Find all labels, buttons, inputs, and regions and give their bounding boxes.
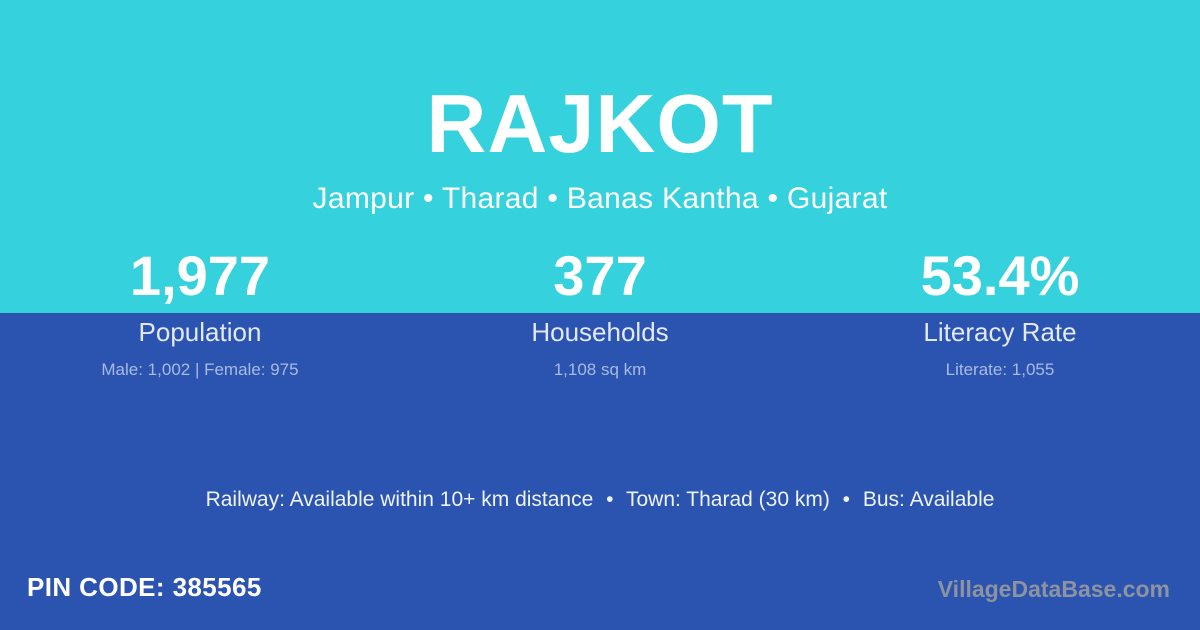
page-title: RAJKOT — [0, 82, 1200, 165]
stat-label: Literacy Rate — [800, 316, 1200, 349]
pin-code: PIN CODE: 385565 — [27, 572, 262, 603]
stat-label: Households — [400, 316, 800, 349]
breadcrumb: Jampur • Tharad • Banas Kantha • Gujarat — [0, 182, 1200, 215]
stat-label: Population — [0, 316, 400, 349]
stat-sublabel: 1,108 sq km — [400, 358, 800, 382]
stats-row: 1,977 Population Male: 1,002 | Female: 9… — [0, 243, 1200, 381]
bullet-separator-icon: • — [836, 485, 857, 514]
stat-literacy-rate: 53.4% Literacy Rate Literate: 1,055 — [800, 243, 1200, 381]
stat-value: 377 — [400, 243, 800, 313]
footer-bar: PIN CODE: 385565 VillageDataBase.com — [0, 558, 1200, 630]
stat-households: 377 Households 1,108 sq km — [400, 243, 800, 381]
facility-railway: Railway: Available within 10+ km distanc… — [206, 488, 594, 511]
facilities-row: Railway: Available within 10+ km distanc… — [0, 485, 1200, 514]
facility-town: Town: Tharad (30 km) — [626, 488, 830, 511]
stat-sublabel: Male: 1,002 | Female: 975 — [0, 358, 400, 382]
stat-value: 53.4% — [800, 243, 1200, 313]
stat-value: 1,977 — [0, 243, 400, 313]
site-brand: VillageDataBase.com — [938, 576, 1170, 604]
village-info-card: RAJKOT Jampur • Tharad • Banas Kantha • … — [0, 0, 1200, 630]
stat-sublabel: Literate: 1,055 — [800, 358, 1200, 382]
bullet-separator-icon: • — [599, 485, 620, 514]
stat-population: 1,977 Population Male: 1,002 | Female: 9… — [0, 243, 400, 381]
facility-bus: Bus: Available — [863, 488, 995, 511]
